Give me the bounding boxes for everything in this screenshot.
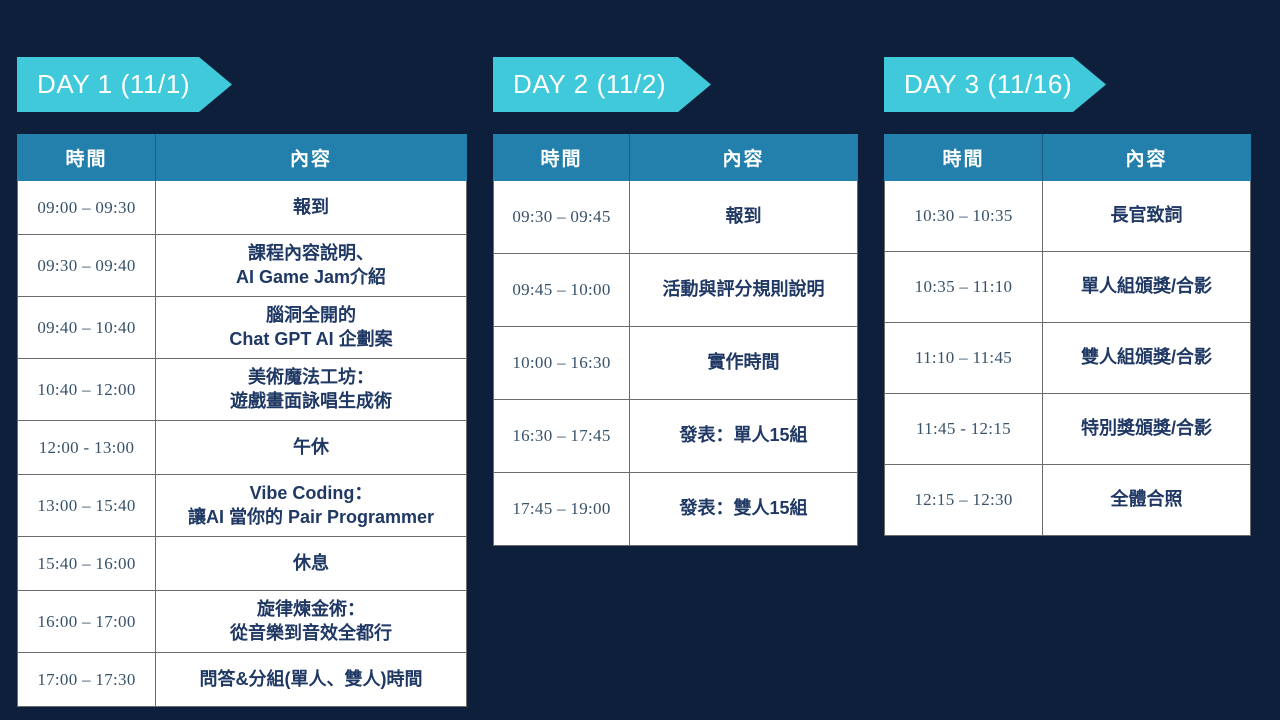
- column-header-time: 時間: [885, 135, 1043, 181]
- table-row: 11:10 – 11:45 雙人組頒獎/合影: [885, 323, 1251, 394]
- table-row: 09:30 – 09:45 報到: [494, 181, 858, 254]
- content-line: 遊戲畫面詠唱生成術: [162, 390, 460, 414]
- content-line: 全體合照: [1049, 488, 1244, 512]
- content-line: 雙人組頒獎/合影: [1049, 346, 1244, 370]
- cell-time: 10:35 – 11:10: [885, 252, 1043, 323]
- cell-time: 09:30 – 09:40: [18, 235, 156, 297]
- column-header-content: 內容: [630, 135, 858, 181]
- table-row: 10:30 – 10:35 長官致詞: [885, 181, 1251, 252]
- table-row: 10:00 – 16:30 實作時間: [494, 327, 858, 400]
- cell-content: 休息: [156, 537, 467, 591]
- table-row: 13:00 – 15:40 Vibe Coding： 讓AI 當你的 Pair …: [18, 475, 467, 537]
- column-header-content: 內容: [156, 135, 467, 181]
- cell-time: 13:00 – 15:40: [18, 475, 156, 537]
- column-header-content: 內容: [1043, 135, 1251, 181]
- cell-time: 16:00 – 17:00: [18, 591, 156, 653]
- content-line: 美術魔法工坊：: [162, 366, 460, 390]
- table-row: 16:30 – 17:45 發表：單人15組: [494, 400, 858, 473]
- day-1-banner: DAY 1 (11/1): [17, 57, 232, 112]
- table-header-row: 時間 內容: [885, 135, 1251, 181]
- table-row: 15:40 – 16:00 休息: [18, 537, 467, 591]
- day-column-3: DAY 3 (11/16) 時間 內容 10:30 – 10:35 長官致詞 1…: [884, 57, 1251, 536]
- content-line: 特別獎頒獎/合影: [1049, 417, 1244, 441]
- cell-time: 09:45 – 10:00: [494, 254, 630, 327]
- cell-time: 12:15 – 12:30: [885, 465, 1043, 536]
- cell-content: 報到: [156, 181, 467, 235]
- content-line: 從音樂到音效全都行: [162, 622, 460, 646]
- content-line: 發表：單人15組: [636, 424, 851, 448]
- cell-time: 12:00 - 13:00: [18, 421, 156, 475]
- cell-time: 10:40 – 12:00: [18, 359, 156, 421]
- cell-content: 美術魔法工坊： 遊戲畫面詠唱生成術: [156, 359, 467, 421]
- cell-time: 11:10 – 11:45: [885, 323, 1043, 394]
- content-line: 長官致詞: [1049, 204, 1244, 228]
- cell-time: 09:00 – 09:30: [18, 181, 156, 235]
- cell-content: Vibe Coding： 讓AI 當你的 Pair Programmer: [156, 475, 467, 537]
- table-row: 09:45 – 10:00 活動與評分規則說明: [494, 254, 858, 327]
- cell-content: 問答&分組(單人、雙人)時間: [156, 653, 467, 707]
- cell-time: 15:40 – 16:00: [18, 537, 156, 591]
- cell-time: 10:00 – 16:30: [494, 327, 630, 400]
- cell-content: 雙人組頒獎/合影: [1043, 323, 1251, 394]
- content-line: 休息: [162, 552, 460, 576]
- cell-content: 報到: [630, 181, 858, 254]
- column-header-time: 時間: [494, 135, 630, 181]
- cell-content: 課程內容說明、 AI Game Jam介紹: [156, 235, 467, 297]
- column-header-time: 時間: [18, 135, 156, 181]
- cell-content: 全體合照: [1043, 465, 1251, 536]
- table-row: 11:45 - 12:15 特別獎頒獎/合影: [885, 394, 1251, 465]
- content-line: 單人組頒獎/合影: [1049, 275, 1244, 299]
- table-row: 17:45 – 19:00 發表：雙人15組: [494, 473, 858, 546]
- cell-content: 長官致詞: [1043, 181, 1251, 252]
- content-line: 實作時間: [636, 351, 851, 375]
- day-3-schedule-table: 時間 內容 10:30 – 10:35 長官致詞 10:35 – 11:10 單…: [884, 134, 1251, 536]
- content-line: 報到: [636, 205, 851, 229]
- cell-content: 實作時間: [630, 327, 858, 400]
- table-row: 10:35 – 11:10 單人組頒獎/合影: [885, 252, 1251, 323]
- content-line: 課程內容說明、: [162, 242, 460, 266]
- cell-time: 17:45 – 19:00: [494, 473, 630, 546]
- content-line: Vibe Coding：: [162, 482, 460, 506]
- cell-content: 活動與評分規則說明: [630, 254, 858, 327]
- content-line: 發表：雙人15組: [636, 497, 851, 521]
- day-2-schedule-table: 時間 內容 09:30 – 09:45 報到 09:45 – 10:00 活動與…: [493, 134, 858, 546]
- table-header-row: 時間 內容: [18, 135, 467, 181]
- table-row: 12:00 - 13:00 午休: [18, 421, 467, 475]
- cell-content: 發表：單人15組: [630, 400, 858, 473]
- cell-time: 09:40 – 10:40: [18, 297, 156, 359]
- table-row: 09:00 – 09:30 報到: [18, 181, 467, 235]
- schedule-board: DAY 1 (11/1) 時間 內容 09:00 – 09:30 報到 09:3…: [0, 0, 1280, 720]
- cell-time: 09:30 – 09:45: [494, 181, 630, 254]
- table-row: 12:15 – 12:30 全體合照: [885, 465, 1251, 536]
- table-row: 16:00 – 17:00 旋律煉金術： 從音樂到音效全都行: [18, 591, 467, 653]
- content-line: 旋律煉金術：: [162, 598, 460, 622]
- cell-content: 特別獎頒獎/合影: [1043, 394, 1251, 465]
- day-3-banner: DAY 3 (11/16): [884, 57, 1106, 112]
- cell-time: 17:00 – 17:30: [18, 653, 156, 707]
- cell-content: 午休: [156, 421, 467, 475]
- cell-content: 腦洞全開的 Chat GPT AI 企劃案: [156, 297, 467, 359]
- content-line: 活動與評分規則說明: [636, 278, 851, 302]
- cell-content: 單人組頒獎/合影: [1043, 252, 1251, 323]
- cell-content: 發表：雙人15組: [630, 473, 858, 546]
- table-row: 09:40 – 10:40 腦洞全開的 Chat GPT AI 企劃案: [18, 297, 467, 359]
- table-row: 17:00 – 17:30 問答&分組(單人、雙人)時間: [18, 653, 467, 707]
- content-line: 讓AI 當你的 Pair Programmer: [162, 506, 460, 530]
- content-line: 腦洞全開的: [162, 304, 460, 328]
- table-header-row: 時間 內容: [494, 135, 858, 181]
- cell-time: 10:30 – 10:35: [885, 181, 1043, 252]
- table-row: 10:40 – 12:00 美術魔法工坊： 遊戲畫面詠唱生成術: [18, 359, 467, 421]
- cell-time: 16:30 – 17:45: [494, 400, 630, 473]
- cell-time: 11:45 - 12:15: [885, 394, 1043, 465]
- content-line: 午休: [162, 436, 460, 460]
- day-2-banner: DAY 2 (11/2): [493, 57, 711, 112]
- content-line: 報到: [162, 196, 460, 220]
- content-line: Chat GPT AI 企劃案: [162, 328, 460, 352]
- table-row: 09:30 – 09:40 課程內容說明、 AI Game Jam介紹: [18, 235, 467, 297]
- day-column-2: DAY 2 (11/2) 時間 內容 09:30 – 09:45 報到 09:4…: [493, 57, 858, 546]
- day-1-schedule-table: 時間 內容 09:00 – 09:30 報到 09:30 – 09:40 課程內…: [17, 134, 467, 707]
- content-line: 問答&分組(單人、雙人)時間: [162, 668, 460, 692]
- day-column-1: DAY 1 (11/1) 時間 內容 09:00 – 09:30 報到 09:3…: [17, 57, 467, 707]
- cell-content: 旋律煉金術： 從音樂到音效全都行: [156, 591, 467, 653]
- content-line: AI Game Jam介紹: [162, 266, 460, 290]
